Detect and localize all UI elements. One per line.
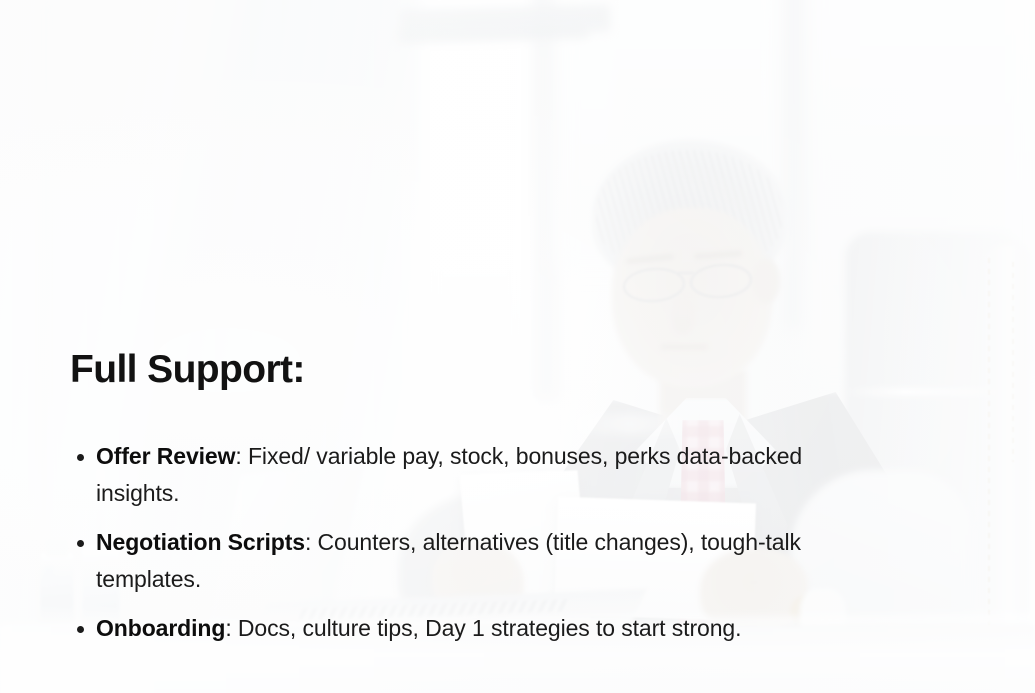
eyeglass-bridge [678, 272, 694, 274]
chair-stitching [988, 258, 990, 633]
bullet-term: Offer Review [96, 443, 235, 469]
glass-highlight [44, 566, 54, 592]
window-mullion-right [786, 0, 806, 330]
window-pane-left [420, 0, 530, 390]
list-item: Offer Review: Fixed/ variable pay, stock… [70, 438, 886, 512]
support-bullet-list: Offer Review: Fixed/ variable pay, stock… [70, 438, 886, 647]
bullet-term: Onboarding [96, 615, 225, 641]
glass-bottle-cap [46, 540, 68, 556]
slide-content: Full Support: Offer Review: Fixed/ varia… [70, 348, 886, 659]
nose [672, 292, 694, 334]
window-mullion-left [534, 0, 558, 400]
ear [752, 258, 780, 304]
presentation-slide: Full Support: Offer Review: Fixed/ varia… [0, 0, 1035, 693]
list-item: Onboarding: Docs, culture tips, Day 1 st… [70, 610, 886, 647]
bullet-term: Negotiation Scripts [96, 529, 305, 555]
chair-stitching-secondary [1012, 262, 1014, 462]
list-item: Negotiation Scripts: Counters, alternati… [70, 524, 886, 598]
bullet-detail: : Docs, culture tips, Day 1 strategies t… [225, 615, 741, 641]
slide-headline: Full Support: [70, 348, 886, 392]
